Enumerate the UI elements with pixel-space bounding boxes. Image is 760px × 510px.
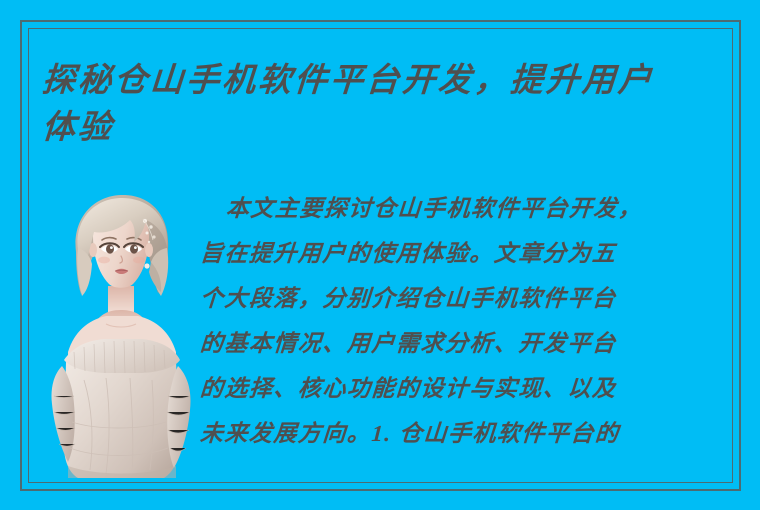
body-line-6: 未来发展方向。1. 仓山手机软件平台的 (198, 411, 719, 456)
blush-left (98, 257, 110, 264)
blush-right (133, 257, 145, 264)
title-line-1: 探秘仓山手机软件平台开发，提升用户 (40, 58, 723, 105)
earring (144, 263, 149, 268)
iris-left (106, 244, 114, 253)
title-line-2: 体验 (40, 105, 723, 152)
body-paragraph: 本文主要探讨仓山手机软件平台开发， 旨在提升用户的使用体验。文章分为五 个大段落… (200, 186, 718, 456)
character-illustration (48, 190, 194, 478)
eye-highlight-right (134, 246, 137, 249)
body-line-4: 的基本情况、用户需求分析、开发平台 (198, 321, 719, 366)
article-cover-card: 探秘仓山手机软件平台开发，提升用户 体验 (0, 0, 760, 510)
body-line-2: 旨在提升用户的使用体验。文章分为五 (198, 231, 719, 276)
body-line-3: 个大段落，分别介绍仓山手机软件平台 (198, 276, 719, 321)
eye-highlight-left (110, 246, 113, 249)
body-line-5: 的选择、核心功能的设计与实现、以及 (198, 366, 719, 411)
ear-right (145, 243, 153, 257)
body-line-1: 本文主要探讨仓山手机软件平台开发， (198, 186, 719, 231)
iris-right (130, 244, 138, 253)
page-title: 探秘仓山手机软件平台开发，提升用户 体验 (42, 58, 722, 152)
